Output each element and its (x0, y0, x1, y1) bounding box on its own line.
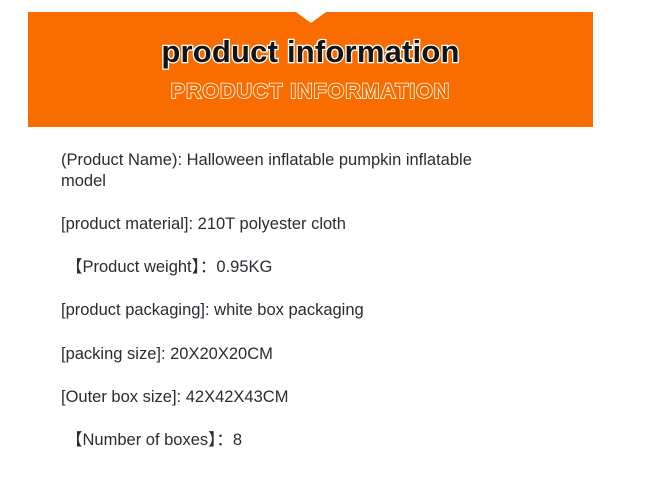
banner-title: product information (161, 36, 459, 67)
spec-line-outer-box-size: [Outer box size]: 42X42X43CM (0, 387, 516, 408)
banner-notch-container (28, 12, 593, 26)
spec-line-product-packaging: [product packaging]: white box packaging (0, 300, 516, 321)
spec-line-product-weight: 【Product weight】：0.95KG (0, 257, 521, 278)
banner-subtitle: PRODUCT INFORMATION (171, 81, 450, 103)
triangle-down-notch-icon (296, 12, 326, 23)
spec-line-number-of-boxes: 【Number of boxes】：8 (0, 430, 521, 451)
product-spec-list: (Product Name): Halloween inflatable pum… (0, 150, 669, 451)
spec-line-packing-size: [packing size]: 20X20X20CM (0, 344, 516, 365)
spec-line-product-name: (Product Name): Halloween inflatable pum… (0, 150, 516, 192)
product-information-banner: product information PRODUCT INFORMATION (28, 12, 593, 127)
spec-line-product-material: [product material]: 210T polyester cloth (0, 214, 516, 235)
